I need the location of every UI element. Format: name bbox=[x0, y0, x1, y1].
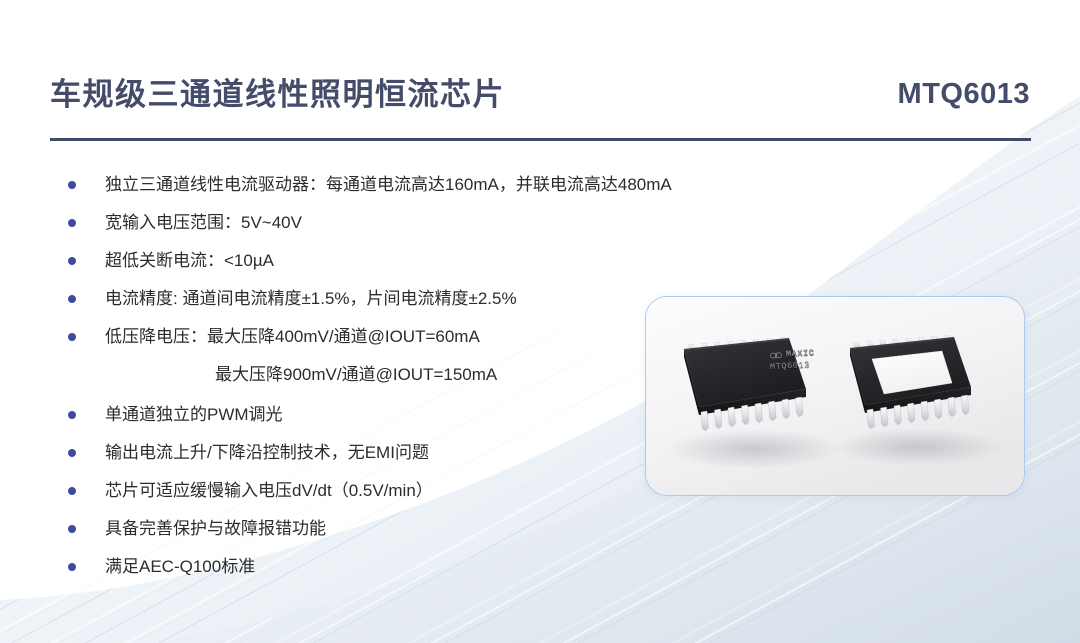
bullet-dot-icon bbox=[68, 525, 76, 533]
bullet-dot-icon bbox=[68, 257, 76, 265]
feature-text: 满足AEC-Q100标准 bbox=[105, 554, 752, 580]
chip-package-illustration-icon bbox=[646, 297, 1024, 495]
slide-root: 车规级三通道线性照明恒流芯片 MTQ6013 独立三通道线性电流驱动器：每通道电… bbox=[0, 0, 1080, 643]
part-number-label: MTQ6013 bbox=[898, 80, 1030, 109]
feature-item: 超低关断电流：<10µA bbox=[62, 248, 752, 286]
bullet-dot-icon bbox=[68, 333, 76, 341]
bullet-dot-icon bbox=[68, 181, 76, 189]
bullet-dot-icon bbox=[68, 449, 76, 457]
bullet-dot-icon bbox=[68, 411, 76, 419]
chip-brand-text: MAXIC bbox=[786, 348, 815, 360]
bullet-dot-icon bbox=[68, 295, 76, 303]
chip-photo: MAXIC MTQ6013 bbox=[646, 297, 1024, 495]
feature-item: 独立三通道线性电流驱动器：每通道电流高达160mA，并联电流高达480mA bbox=[62, 172, 752, 210]
feature-text: 独立三通道线性电流驱动器：每通道电流高达160mA，并联电流高达480mA bbox=[105, 172, 752, 198]
maxic-logo-icon bbox=[770, 351, 784, 359]
feature-text: 宽输入电压范围：5V~40V bbox=[105, 210, 752, 236]
feature-text: 具备完善保护与故障报错功能 bbox=[105, 516, 752, 542]
feature-item: 满足AEC-Q100标准 bbox=[62, 554, 752, 592]
header-divider bbox=[50, 138, 1031, 141]
feature-item: 宽输入电压范围：5V~40V bbox=[62, 210, 752, 248]
bullet-dot-icon bbox=[68, 563, 76, 571]
page-title: 车规级三通道线性照明恒流芯片 bbox=[50, 79, 505, 110]
bullet-dot-icon bbox=[68, 219, 76, 227]
product-image-card: MAXIC MTQ6013 bbox=[645, 296, 1025, 496]
bullet-dot-icon bbox=[68, 487, 76, 495]
feature-item: 具备完善保护与故障报错功能 bbox=[62, 516, 752, 554]
chip-bottom-view bbox=[850, 336, 971, 430]
page-header: 车规级三通道线性照明恒流芯片 MTQ6013 bbox=[50, 66, 1030, 122]
feature-text: 超低关断电流：<10µA bbox=[105, 248, 752, 274]
